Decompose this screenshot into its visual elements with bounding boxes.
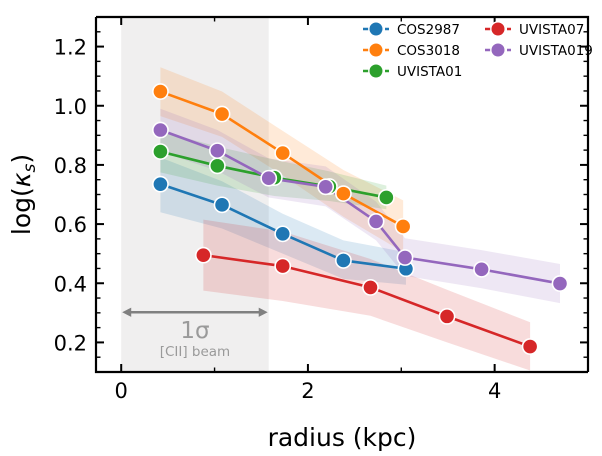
data-point — [275, 145, 290, 160]
data-point — [210, 143, 225, 158]
data-point — [336, 253, 351, 268]
data-point — [153, 144, 168, 159]
y-tick-label: 1.0 — [54, 95, 87, 119]
data-point — [153, 122, 168, 137]
data-point — [210, 158, 225, 173]
legend-label: COS2987 — [397, 22, 460, 38]
data-point — [153, 84, 168, 99]
beam-sigma-label: 1σ — [180, 318, 209, 344]
data-point — [397, 250, 412, 265]
legend-label: UVISTA019 — [519, 43, 593, 59]
x-tick-label: 4 — [488, 379, 501, 403]
legend-marker-sample — [369, 43, 383, 57]
x-tick-label: 0 — [115, 379, 128, 403]
data-point — [396, 219, 411, 234]
legend-label: COS3018 — [397, 43, 460, 59]
legend-label: UVISTA01 — [397, 64, 462, 80]
y-tick-label: 0.8 — [54, 154, 87, 178]
x-axis-label: radius (kpc) — [268, 423, 417, 452]
x-tick-label: 2 — [301, 379, 314, 403]
legend-entry-uvista019[interactable]: UVISTA019 — [485, 43, 593, 59]
legend-entry-uvista07[interactable]: UVISTA07 — [485, 22, 584, 38]
data-point — [523, 339, 538, 354]
data-point — [275, 226, 290, 241]
legend-entry-cos2987[interactable]: COS2987 — [363, 22, 460, 38]
legend-marker-sample — [369, 64, 383, 78]
data-point — [196, 248, 211, 263]
y-tick-label: 0.4 — [54, 272, 87, 296]
legend-marker-sample — [491, 22, 505, 36]
data-point — [261, 171, 276, 186]
data-point — [474, 262, 489, 277]
legend-marker-sample — [491, 43, 505, 57]
y-tick-label: 1.2 — [54, 36, 87, 60]
data-point — [214, 106, 229, 121]
data-point — [368, 214, 383, 229]
data-point — [214, 197, 229, 212]
beam-sublabel: [CII] beam — [160, 344, 231, 360]
figure-root: 1σ[CII] beam 0.20.40.60.81.01.2024radius… — [0, 0, 602, 456]
data-point — [336, 186, 351, 201]
y-tick-label: 0.2 — [54, 331, 87, 355]
legend-entry-uvista01[interactable]: UVISTA01 — [363, 64, 462, 80]
plot-canvas: 1σ[CII] beam 0.20.40.60.81.01.2024radius… — [0, 0, 602, 456]
data-point — [379, 190, 394, 205]
data-point — [363, 280, 378, 295]
data-point — [153, 177, 168, 192]
legend-label: UVISTA07 — [519, 22, 584, 38]
data-point — [552, 276, 567, 291]
legend-entry-cos3018[interactable]: COS3018 — [363, 43, 460, 59]
y-tick-label: 0.6 — [54, 213, 87, 237]
data-point — [275, 258, 290, 273]
legend-marker-sample — [369, 22, 383, 36]
data-point — [318, 179, 333, 194]
data-point — [439, 309, 454, 324]
